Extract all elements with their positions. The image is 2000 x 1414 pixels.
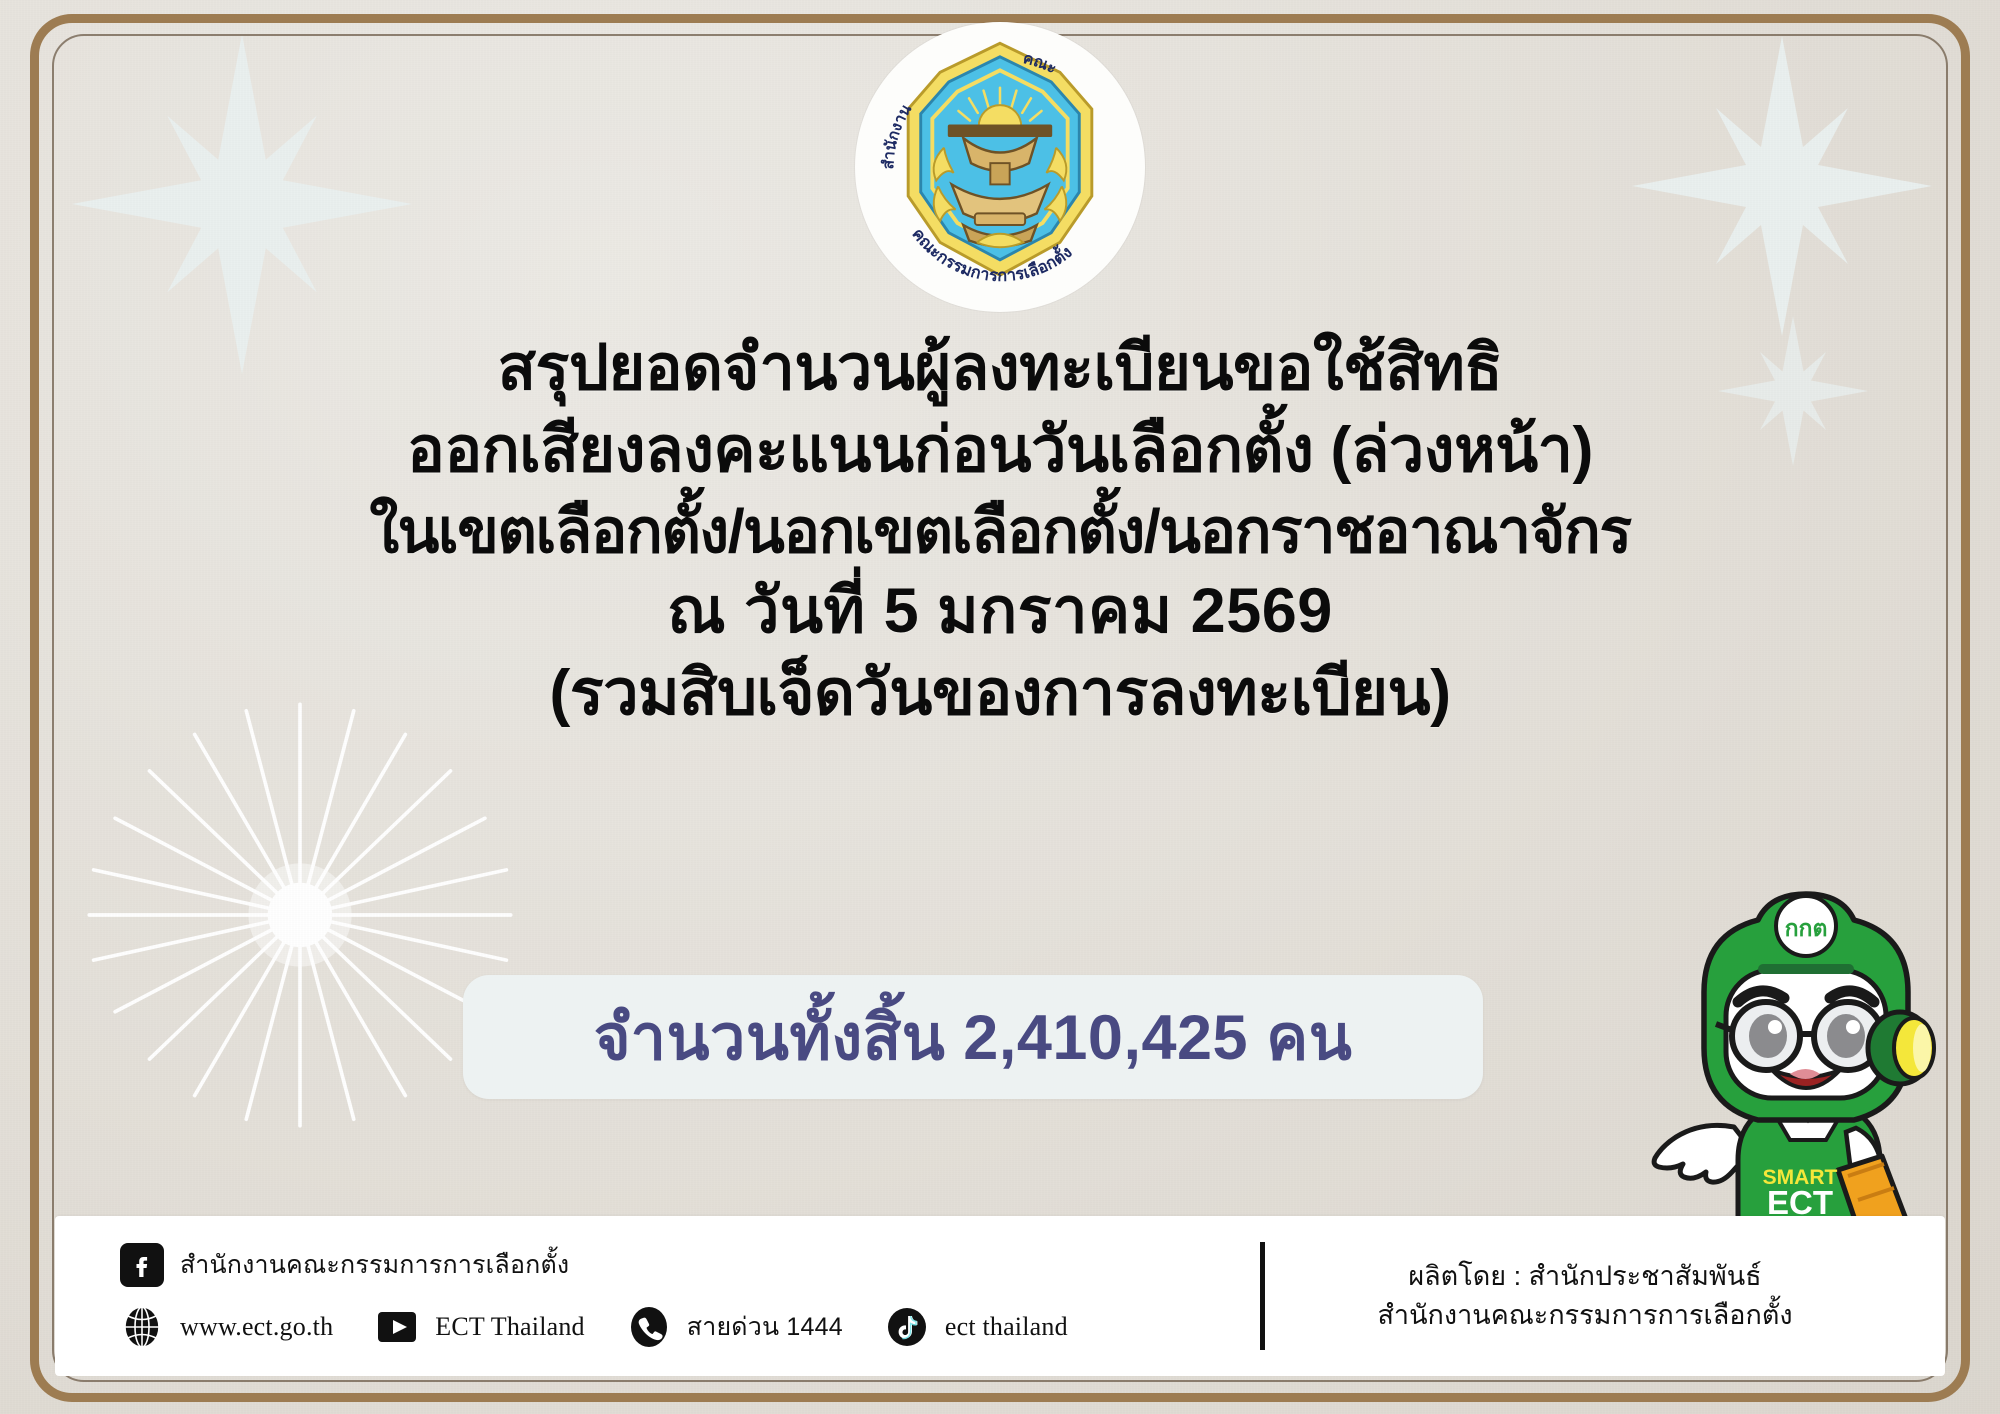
phone-icon (627, 1305, 671, 1349)
channel-tiktok[interactable]: ect thailand (885, 1305, 1068, 1349)
mascot-helmet-badge: กกต (1785, 915, 1828, 941)
sunburst-rays-left (85, 700, 515, 1130)
poster-canvas: สำนักงาน คณะ คณะกรรมการการเลือกตั้ง สรุป… (0, 0, 2000, 1414)
globe-icon (120, 1305, 164, 1349)
channel-facebook[interactable]: สำนักงานคณะกรรมการการเลือกตั้ง (120, 1243, 569, 1287)
ect-logo: สำนักงาน คณะ คณะกรรมการการเลือกตั้ง (855, 22, 1145, 312)
logo-emblem-icon: สำนักงาน คณะ คณะกรรมการการเลือกตั้ง (855, 22, 1145, 312)
footer-bar: สำนักงานคณะกรรมการการเลือกตั้ง www.ect.g… (55, 1216, 1945, 1376)
channel-website[interactable]: www.ect.go.th (120, 1305, 333, 1349)
credit-line-1: ผลิตโดย : สำนักประชาสัมพันธ์ (1265, 1257, 1905, 1296)
footer-credit: ผลิตโดย : สำนักประชาสัมพันธ์ สำนักงานคณะ… (1265, 1257, 1945, 1335)
logo-disc: สำนักงาน คณะ คณะกรรมการการเลือกตั้ง (855, 22, 1145, 312)
page-title: สรุปยอดจำนวนผู้ลงทะเบียนขอใช้สิทธิ ออกเส… (0, 328, 2000, 735)
channel-hotline-label: สายด่วน 1444 (687, 1307, 843, 1347)
headline-line-3: ในเขตเลือกตั้ง/นอกเขตเลือกตั้ง/นอกราชอาณ… (110, 492, 1890, 571)
footer-row-1: สำนักงานคณะกรรมการการเลือกตั้ง (120, 1234, 1260, 1296)
channel-facebook-label: สำนักงานคณะกรรมการการเลือกตั้ง (180, 1245, 569, 1285)
total-count-text: จำนวนทั้งสิ้น 2,410,425 คน (594, 987, 1353, 1087)
smart-ect-mascot: SMART ECT กกต (1642, 884, 1972, 1264)
sparkle-star-top-left (72, 34, 412, 344)
footer-channels: สำนักงานคณะกรรมการการเลือกตั้ง www.ect.g… (55, 1234, 1260, 1358)
credit-line-2: สำนักงานคณะกรรมการการเลือกตั้ง (1265, 1296, 1905, 1335)
headline-line-1: สรุปยอดจำนวนผู้ลงทะเบียนขอใช้สิทธิ (110, 328, 1890, 410)
headline-line-5: (รวมสิบเจ็ดวันของการลงทะเบียน) (110, 653, 1890, 735)
channel-youtube-label: ECT Thailand (435, 1312, 584, 1342)
channel-website-label: www.ect.go.th (180, 1312, 333, 1342)
headline-line-2: ออกเสียงลงคะแนนก่อนวันเลือกตั้ง (ล่วงหน้… (110, 410, 1890, 492)
headline-line-4-date: ณ วันที่ 5 มกราคม 2569 (110, 571, 1890, 653)
channel-hotline[interactable]: สายด่วน 1444 (627, 1305, 843, 1349)
youtube-icon (375, 1305, 419, 1349)
tiktok-icon (885, 1305, 929, 1349)
facebook-icon (120, 1243, 164, 1287)
channel-tiktok-label: ect thailand (945, 1312, 1068, 1342)
total-count-badge: จำนวนทั้งสิ้น 2,410,425 คน (463, 975, 1483, 1099)
sparkle-star-top-right (1632, 36, 1932, 326)
mascot-shirt-smart: SMART (1763, 1166, 1838, 1189)
channel-youtube[interactable]: ECT Thailand (375, 1305, 584, 1349)
footer-row-2: www.ect.go.th ECT Thailand สายด่วน 1444 (120, 1296, 1260, 1358)
